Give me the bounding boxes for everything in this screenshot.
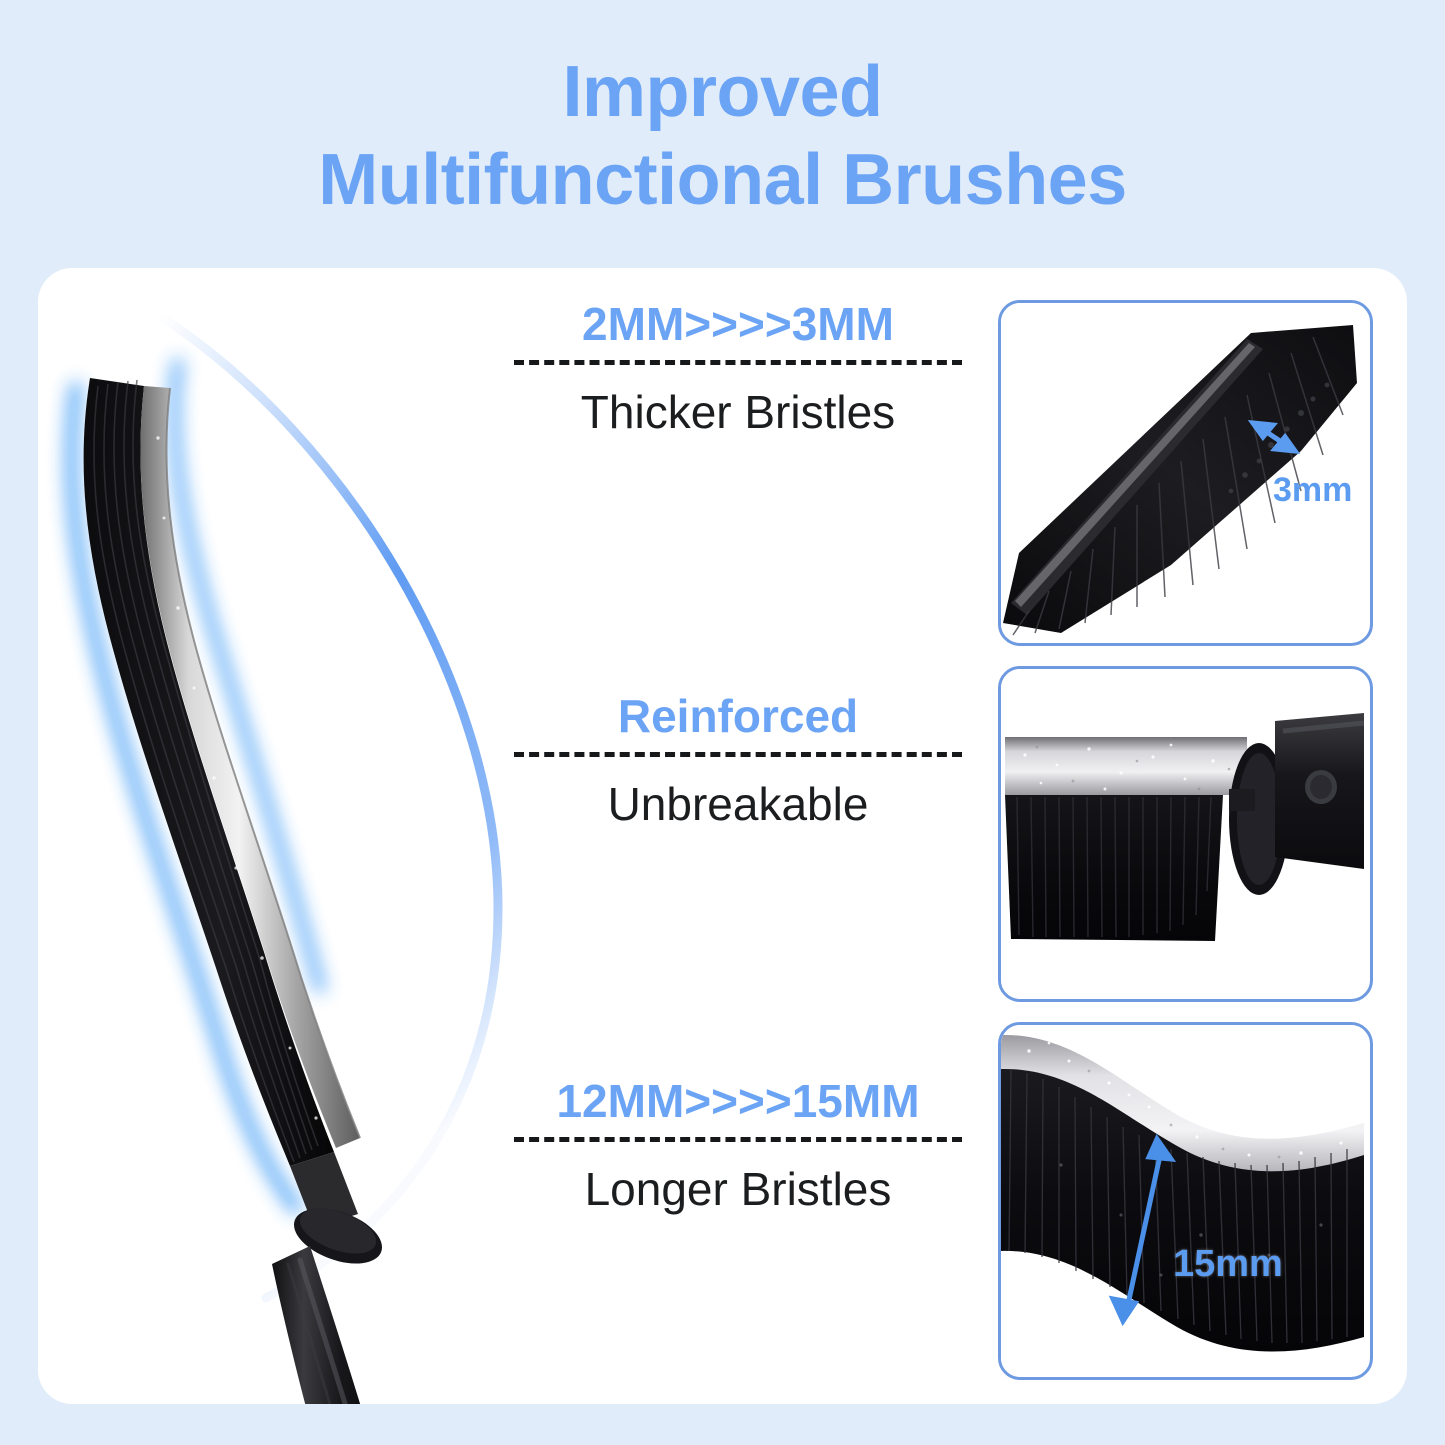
brush-joint-photo xyxy=(1001,669,1364,993)
feature-label-1: Thicker Bristles xyxy=(478,381,998,443)
dimension-label-3mm: 3mm xyxy=(1273,471,1352,509)
detail-panel-bristle-thickness: 3mm xyxy=(998,300,1373,646)
feature-metric-1: 2MM>>>>3MM xyxy=(478,296,998,352)
feature-metric-2: Reinforced xyxy=(478,688,998,744)
detail-panel-reinforced-joint xyxy=(998,666,1373,1002)
page-header: Improved Multifunctional Brushes xyxy=(0,48,1445,224)
feature-item-longer-bristles: 12MM>>>>15MM Longer Bristles xyxy=(478,1073,998,1220)
bristle-length-photo xyxy=(1001,1025,1364,1371)
feature-divider-3 xyxy=(514,1137,962,1142)
page-title-line-1: Improved xyxy=(0,48,1445,136)
content-card: 2MM>>>>3MM Thicker Bristles Reinforced U… xyxy=(38,268,1407,1404)
feature-divider-1 xyxy=(514,360,962,365)
dimension-label-15mm: 15mm xyxy=(1173,1245,1283,1283)
detail-panel-bristle-length: 15mm xyxy=(998,1022,1373,1380)
detail-panels: 3mm xyxy=(998,300,1390,1380)
brush-handle xyxy=(272,1246,416,1404)
page-title-line-2: Multifunctional Brushes xyxy=(0,136,1445,224)
feature-item-reinforced: Reinforced Unbreakable xyxy=(478,688,998,835)
feature-divider-2 xyxy=(514,752,962,757)
feature-list: 2MM>>>>3MM Thicker Bristles Reinforced U… xyxy=(478,268,998,1404)
feature-metric-3: 12MM>>>>15MM xyxy=(478,1073,998,1129)
feature-label-3: Longer Bristles xyxy=(478,1158,998,1220)
bristle-thickness-photo xyxy=(1001,303,1364,637)
feature-item-thicker-bristles: 2MM>>>>3MM Thicker Bristles xyxy=(478,296,998,443)
feature-label-2: Unbreakable xyxy=(478,773,998,835)
